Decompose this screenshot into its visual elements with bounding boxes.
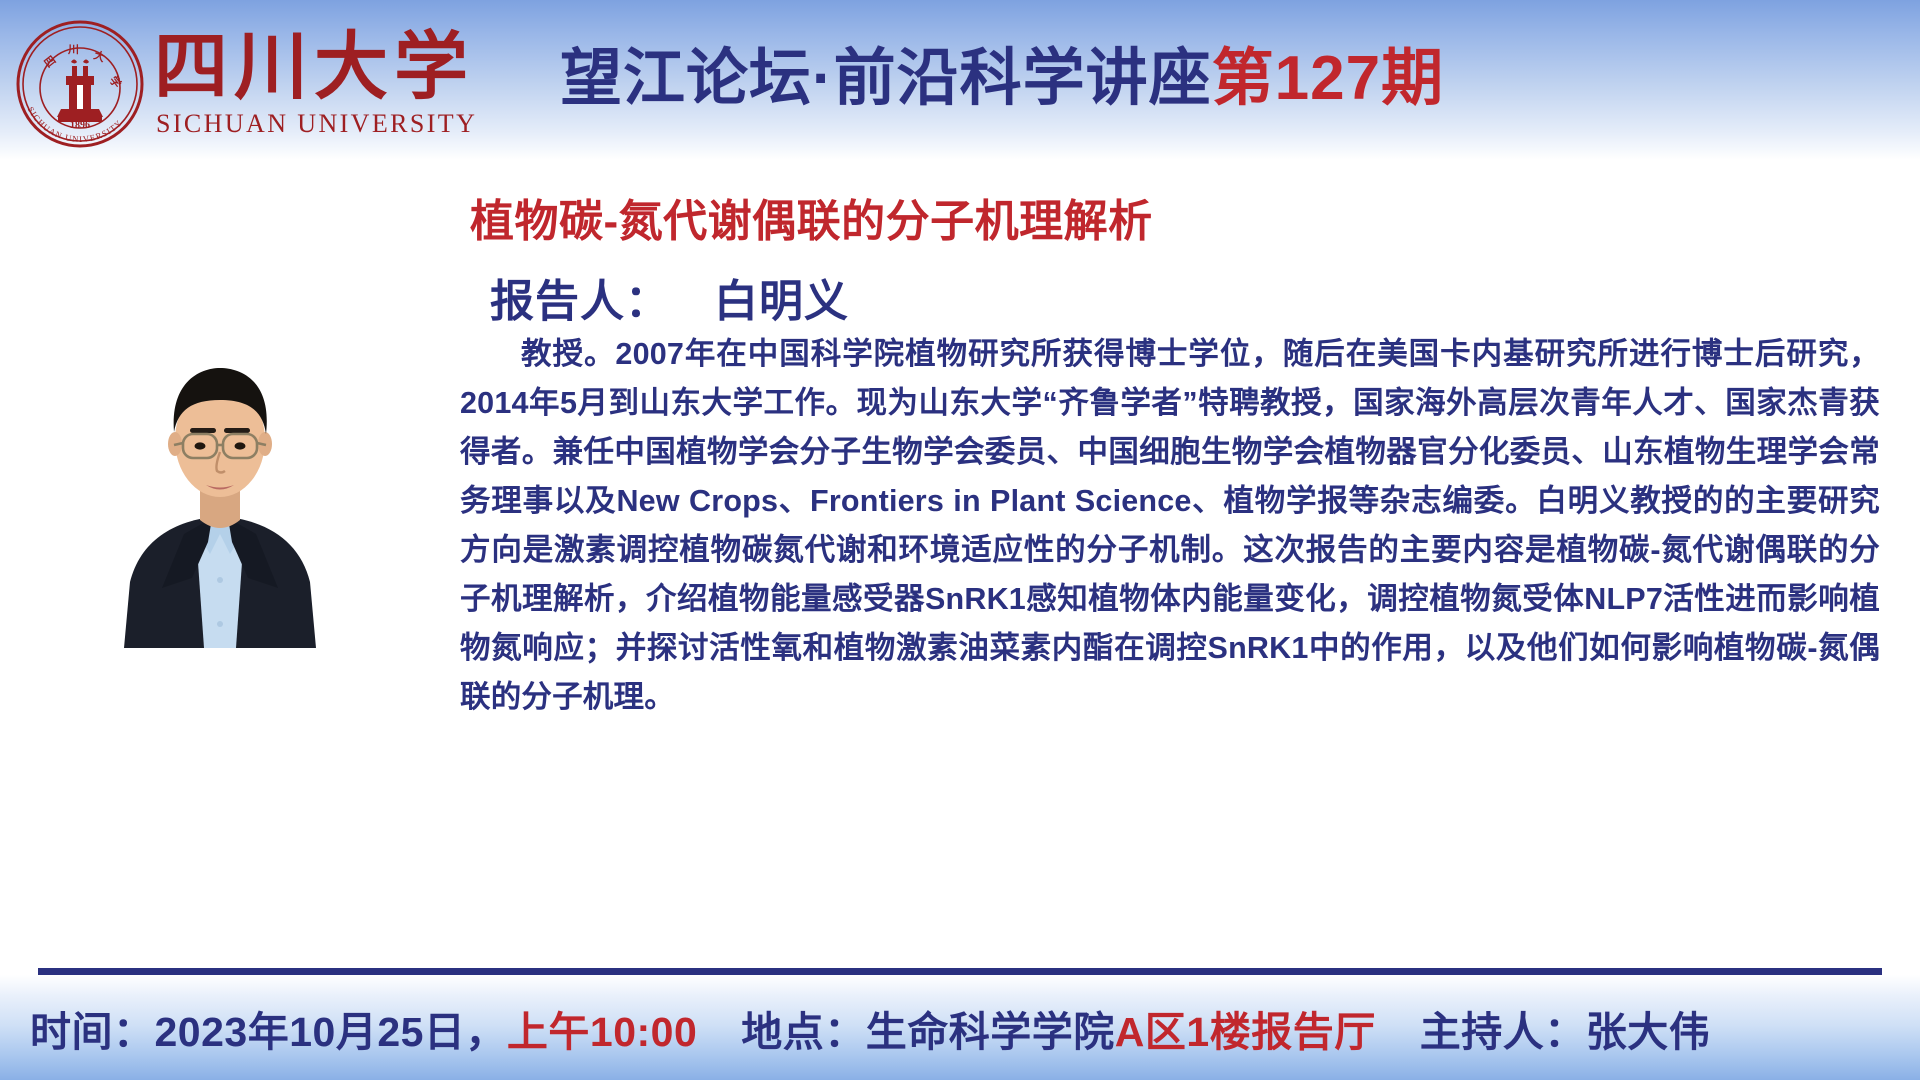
sichuan-university-seal-icon: 四 川 大 学 1896 SICHUAN UNIVERSITY <box>14 18 146 150</box>
university-name-en: SICHUAN UNIVERSITY <box>154 109 477 139</box>
speaker-label: 报告人： <box>490 277 670 326</box>
forum-title-issue: 第127期 <box>1212 27 1444 117</box>
speaker-line: 报告人：白明义 <box>490 265 1690 329</box>
speaker-bio: 教授。2007年在中国科学院植物研究所获得博士学位，随后在美国卡内基研究所进行博… <box>460 330 1880 722</box>
main-content: 植物碳-氮代谢偶联的分子机理解析 报告人：白明义 <box>0 160 1920 960</box>
host-label: 主持人： <box>1420 998 1586 1058</box>
university-name-block: 四川大学 SICHUAN UNIVERSITY <box>154 29 477 138</box>
time-clock: 上午10:00 <box>507 998 697 1058</box>
svg-text:学: 学 <box>107 73 125 90</box>
time-date: 2023年10月25日， <box>155 998 507 1058</box>
forum-title-main: 望江论坛·前沿科学讲座 <box>560 27 1212 117</box>
time-label: 时间： <box>30 998 155 1058</box>
place-label: 地点： <box>741 998 866 1058</box>
lecture-poster: 四 川 大 学 1896 SICHUAN UNIVERSITY 四川大学 SIC… <box>0 0 1920 1080</box>
place-building: 生命科学学院 <box>866 998 1115 1058</box>
footer-divider <box>38 968 1882 975</box>
footer-band: 时间：2023年10月25日，上午10:00地点：生命科学学院A区1楼报告厅主持… <box>0 975 1920 1080</box>
university-name-cn: 四川大学 <box>154 31 477 106</box>
header-band: 四 川 大 学 1896 SICHUAN UNIVERSITY 四川大学 SIC… <box>0 0 1920 160</box>
forum-title: 望江论坛·前沿科学讲座第127期 <box>560 26 1905 118</box>
speaker-portrait <box>100 328 340 648</box>
host-name: 张大伟 <box>1586 998 1711 1058</box>
footer-info: 时间：2023年10月25日，上午10:00地点：生命科学学院A区1楼报告厅主持… <box>30 975 1710 1080</box>
university-logo: 四 川 大 学 1896 SICHUAN UNIVERSITY 四川大学 SIC… <box>14 14 454 154</box>
speaker-name: 白明义 <box>714 277 849 326</box>
svg-text:川: 川 <box>67 43 79 56</box>
place-room: A区1楼报告厅 <box>1115 998 1376 1058</box>
svg-text:1896: 1896 <box>70 120 90 131</box>
lecture-title: 植物碳-氮代谢偶联的分子机理解析 <box>470 185 1770 249</box>
